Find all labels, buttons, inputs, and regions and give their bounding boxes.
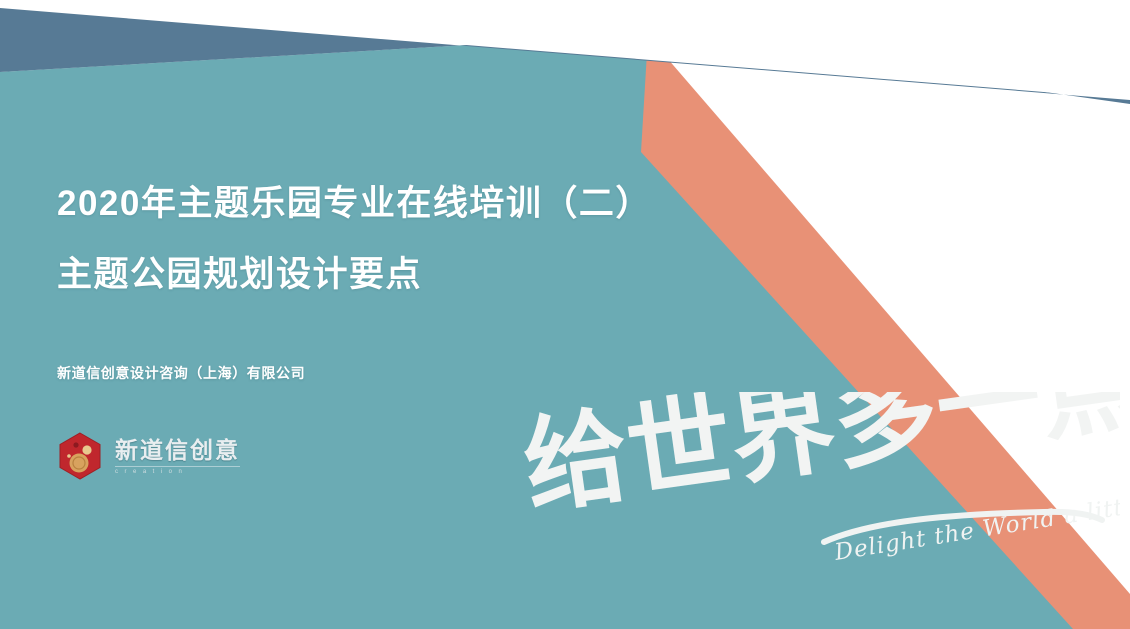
presentation-slide: 2020年主题乐园专业在线培训（二） 主题公园规划设计要点 新道信创意设计咨询（… <box>0 0 1130 629</box>
slide-title-line-1: 2020年主题乐园专业在线培训（二） <box>57 186 717 221</box>
logo-wordmark-group: 新道信创意 creation <box>115 437 240 475</box>
company-logo: 新道信创意 creation <box>54 430 240 482</box>
logo-emblem-circle <box>70 454 89 473</box>
company-name: 新道信创意设计咨询（上海）有限公司 <box>57 363 305 383</box>
logo-emblem-dot-tiny <box>67 454 71 458</box>
logo-emblem-dot-large <box>82 445 91 454</box>
slide-title-line-2: 主题公园规划设计要点 <box>57 257 717 292</box>
title-block: 2020年主题乐园专业在线培训（二） 主题公园规划设计要点 <box>57 186 717 292</box>
logo-hexagon-badge-icon <box>54 430 106 482</box>
logo-subtext: creation <box>115 466 240 475</box>
logo-wordmark-text: 新道信创意 <box>115 439 240 462</box>
background-shapes <box>0 0 1130 629</box>
logo-emblem-dot-small <box>73 442 78 447</box>
